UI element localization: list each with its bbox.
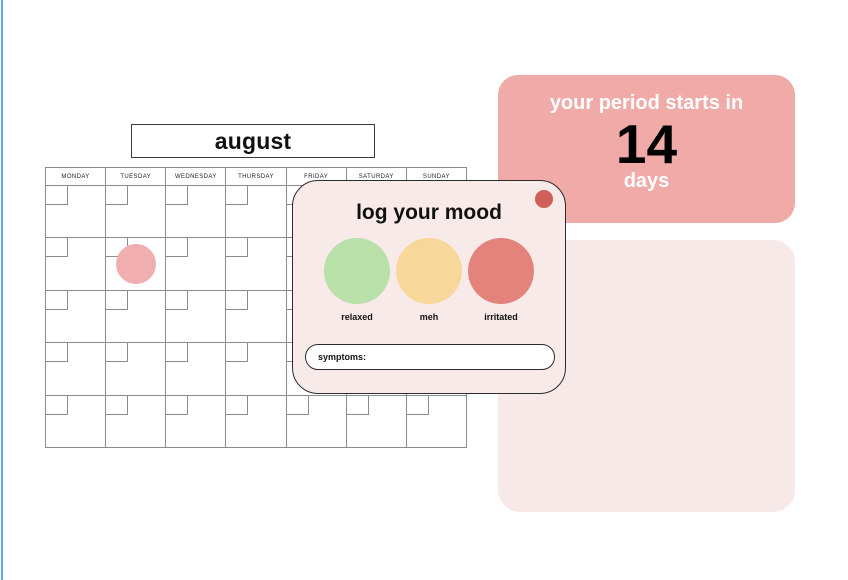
calendar-date-box [226, 186, 248, 205]
calendar-date-box [347, 396, 369, 415]
calendar-day-cell[interactable] [287, 396, 347, 447]
calendar-day-cell[interactable] [46, 238, 106, 289]
period-card-heading: your period starts in [550, 92, 743, 114]
calendar-day-cell[interactable] [166, 396, 226, 447]
calendar-day-cell[interactable] [106, 291, 166, 342]
mood-option-irritated[interactable]: irritated [467, 238, 535, 322]
mood-modal-title: log your mood [293, 201, 565, 225]
app-canvas: august MONDAY TUESDAY WEDNESDAY THURSDAY… [0, 0, 848, 580]
calendar-date-box [226, 343, 248, 362]
calendar-day-cell[interactable] [46, 186, 106, 237]
calendar-date-box [166, 186, 188, 205]
calendar-date-box [166, 291, 188, 310]
mood-option-relaxed[interactable]: relaxed [323, 238, 391, 322]
mood-options-group: relaxed meh irritated [323, 238, 535, 322]
left-edge-indicator [1, 0, 3, 580]
calendar-header-wednesday: WEDNESDAY [166, 168, 226, 185]
calendar-day-cell[interactable] [106, 186, 166, 237]
calendar-date-box [166, 396, 188, 415]
calendar-date-box [166, 238, 188, 257]
calendar-date-box [106, 291, 128, 310]
period-card-count: 14 [616, 116, 677, 172]
mood-swatch-relaxed[interactable] [324, 238, 390, 304]
calendar-header-tuesday: TUESDAY [106, 168, 166, 185]
calendar-date-box [226, 396, 248, 415]
mood-label-relaxed: relaxed [341, 312, 373, 322]
mood-swatch-meh[interactable] [396, 238, 462, 304]
calendar-day-cell[interactable] [226, 343, 286, 394]
calendar-day-cell[interactable] [46, 343, 106, 394]
month-title-box[interactable]: august [131, 124, 375, 158]
calendar-date-box [166, 343, 188, 362]
calendar-day-cell[interactable] [46, 396, 106, 447]
calendar-date-box [106, 396, 128, 415]
calendar-day-cell[interactable] [46, 291, 106, 342]
log-mood-modal: log your mood relaxed meh irritated symp… [292, 180, 566, 394]
calendar-day-cell[interactable] [166, 186, 226, 237]
mood-swatch-irritated[interactable] [468, 238, 534, 304]
calendar-date-box [226, 291, 248, 310]
calendar-date-box [226, 238, 248, 257]
mood-option-meh[interactable]: meh [395, 238, 463, 322]
calendar-day-cell[interactable] [407, 396, 466, 447]
calendar-day-cell[interactable] [106, 396, 166, 447]
calendar-date-box [46, 291, 68, 310]
calendar-day-cell[interactable] [106, 343, 166, 394]
symptoms-label: symptoms: [318, 352, 366, 362]
calendar-day-cell[interactable] [166, 238, 226, 289]
calendar-day-cell[interactable] [166, 343, 226, 394]
calendar-header-monday: MONDAY [46, 168, 106, 185]
calendar-date-box [287, 396, 309, 415]
symptoms-input[interactable]: symptoms: [305, 344, 555, 370]
calendar-day-cell[interactable] [226, 291, 286, 342]
period-card-unit: days [624, 170, 670, 192]
period-day-marker[interactable] [116, 244, 156, 284]
calendar-date-box [46, 186, 68, 205]
mood-label-irritated: irritated [484, 312, 518, 322]
calendar-day-cell[interactable] [226, 396, 286, 447]
calendar-date-box [106, 186, 128, 205]
calendar-header-thursday: THURSDAY [226, 168, 286, 185]
calendar-date-box [46, 343, 68, 362]
calendar-date-box [46, 238, 68, 257]
calendar-day-cell[interactable] [226, 238, 286, 289]
calendar-day-cell[interactable] [166, 291, 226, 342]
calendar-week-row [46, 396, 466, 447]
mood-label-meh: meh [420, 312, 439, 322]
calendar-date-box [106, 343, 128, 362]
calendar-day-cell[interactable] [347, 396, 407, 447]
page-title: august [215, 128, 292, 155]
calendar-date-box [407, 396, 429, 415]
calendar-date-box [46, 396, 68, 415]
calendar-day-cell[interactable] [226, 186, 286, 237]
calendar-day-cell[interactable] [106, 238, 166, 289]
